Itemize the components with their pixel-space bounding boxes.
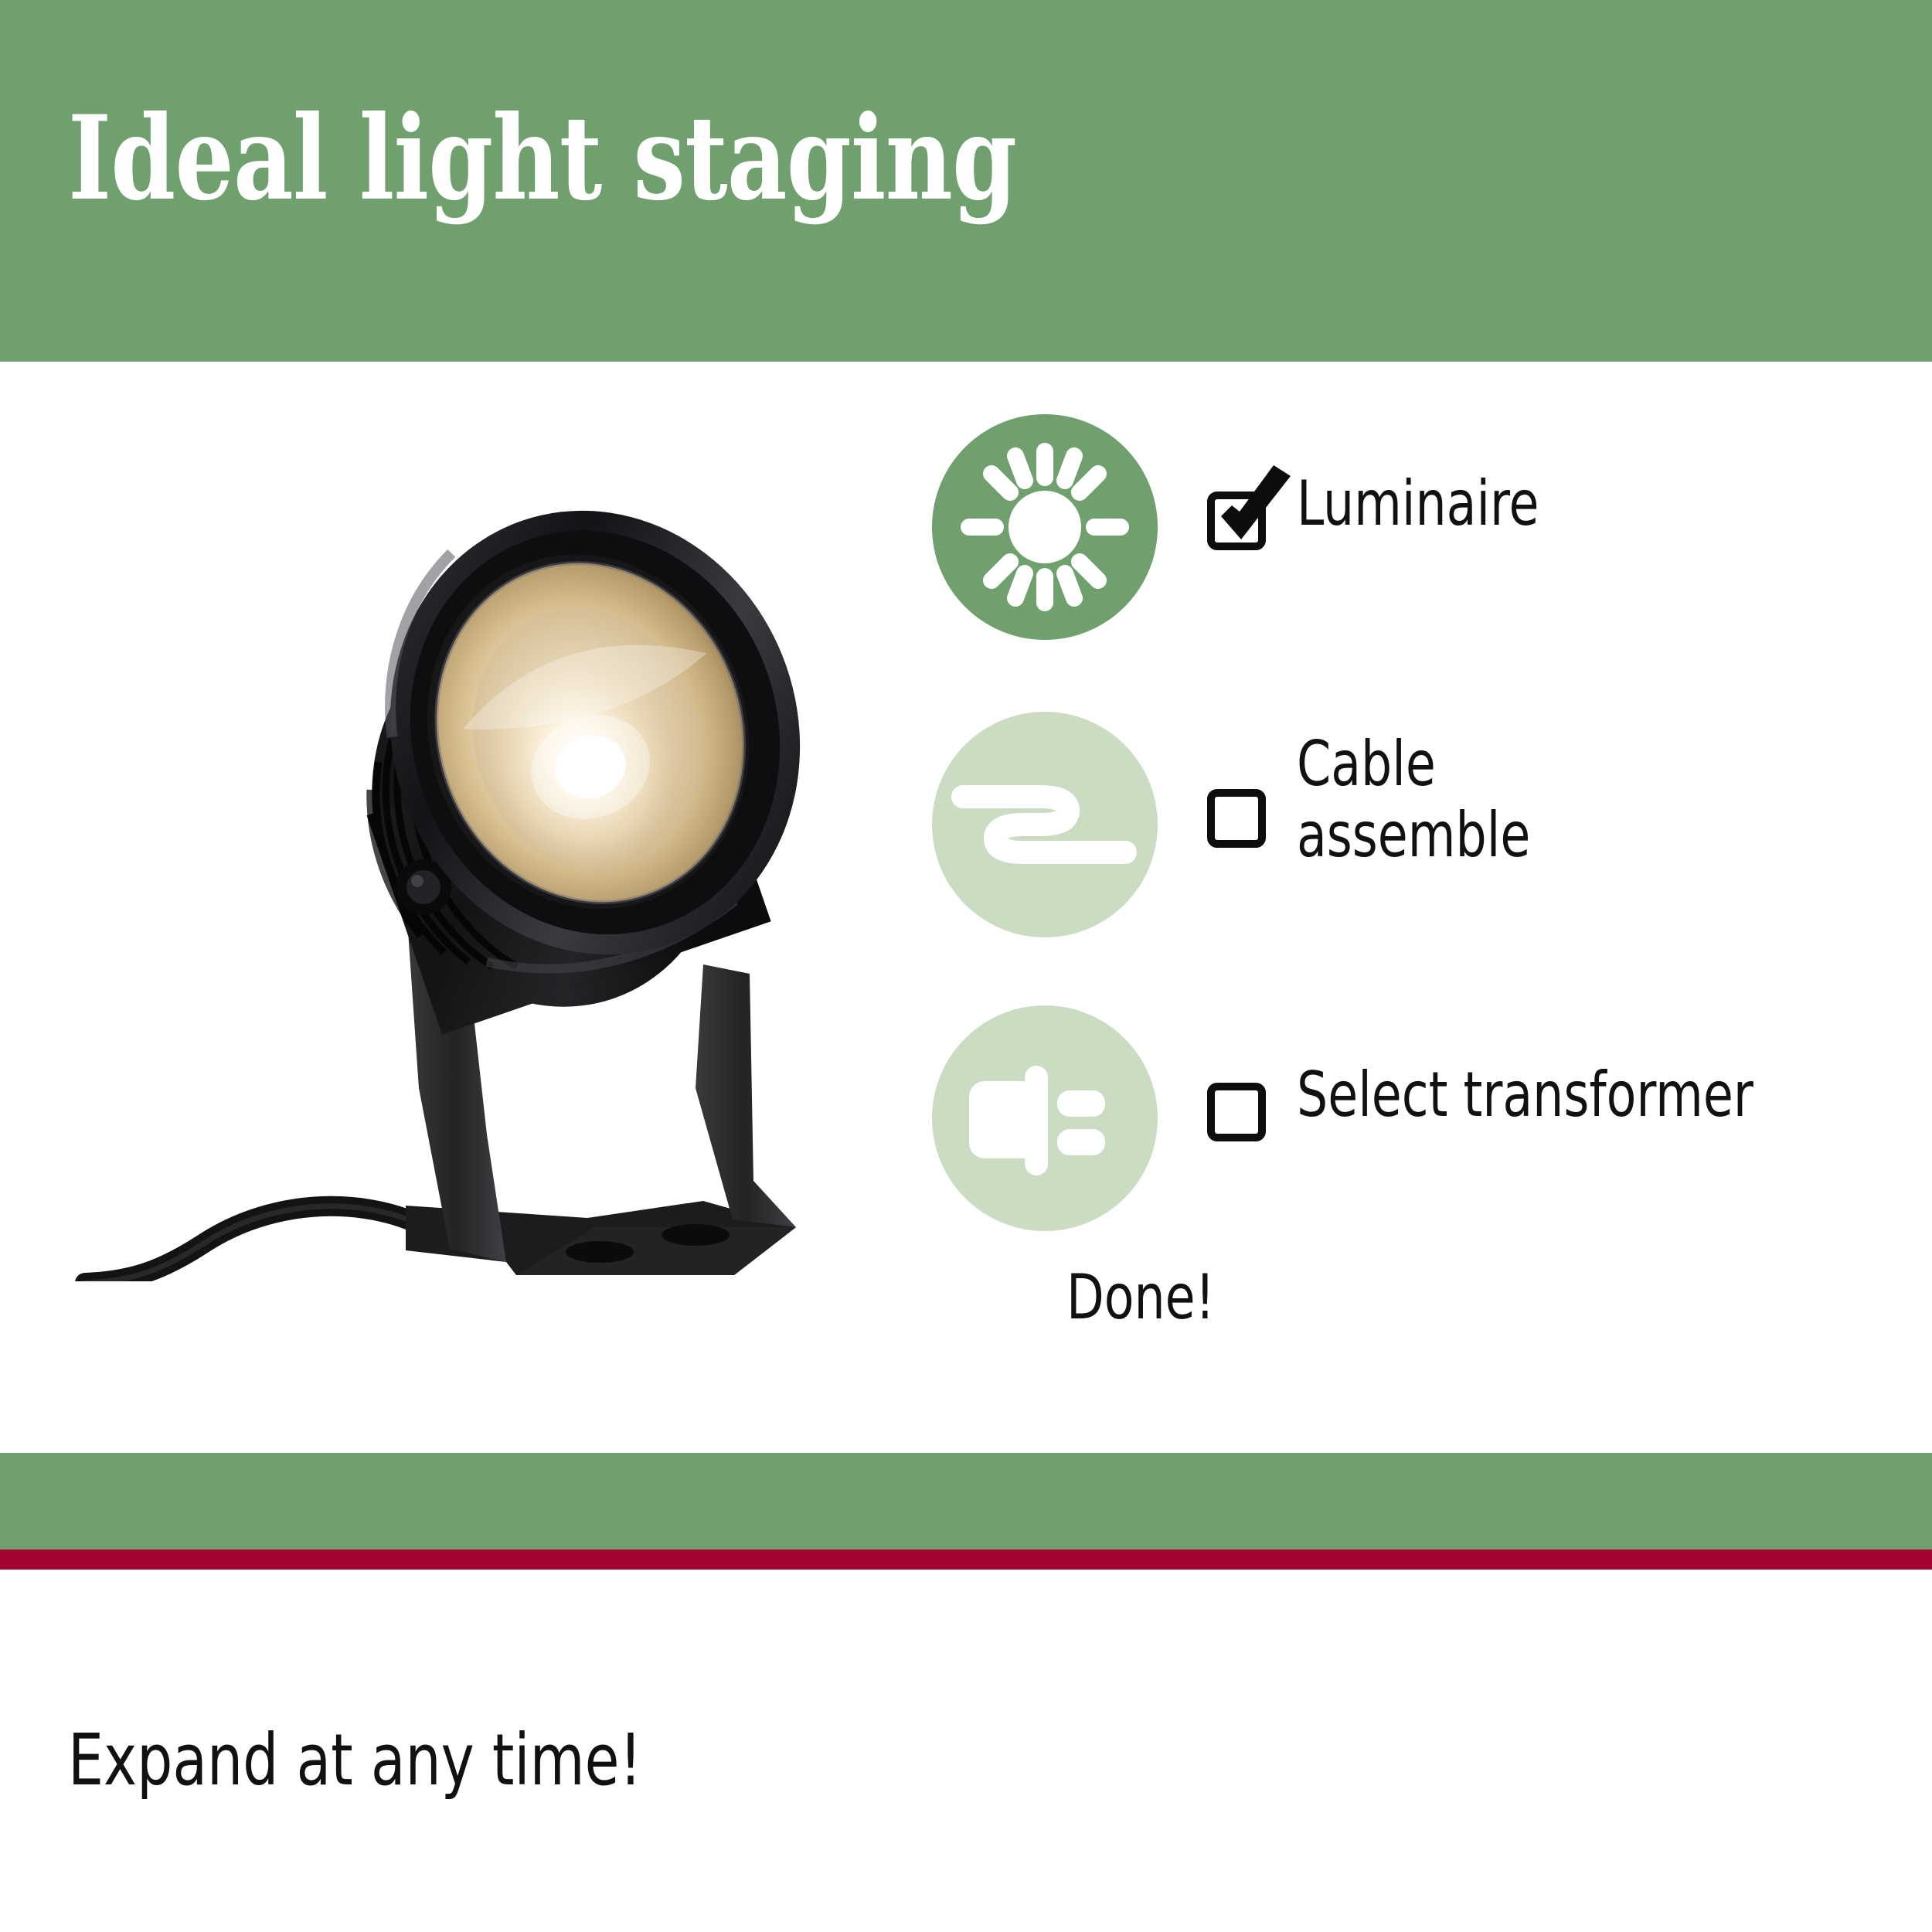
check-mark-icon: [1193, 448, 1309, 564]
checkbox-select-transformer[interactable]: [1207, 1083, 1266, 1141]
checklist-item-luminaire[interactable]: Luminaire: [927, 408, 1901, 640]
checklist-item-select-transformer[interactable]: Select transformer: [927, 999, 1901, 1231]
cable-icon: [932, 712, 1158, 937]
footer-caption: Expand at any time!: [68, 1722, 642, 1799]
checkbox-cable-assemble[interactable]: [1207, 789, 1266, 848]
footer-red-accent-bar: [0, 1549, 1932, 1570]
footer-green-band: [0, 1453, 1932, 1549]
checklist-label-select-transformer: Select transformer: [1297, 1060, 1753, 1131]
footer-area: Expand at any time!: [0, 1570, 1932, 1932]
checklist-label-cable-assemble: Cable assemble: [1297, 729, 1530, 871]
product-image-garden-spotlight: [54, 501, 920, 1281]
sun-icon: [932, 414, 1158, 640]
done-text: Done!: [1066, 1262, 1215, 1333]
checklist-item-cable-assemble[interactable]: Cable assemble: [927, 706, 1901, 937]
main-content: Luminaire Cable assemble: [0, 362, 1932, 1453]
plug-icon: [932, 1005, 1158, 1231]
checkbox-luminaire[interactable]: [1207, 492, 1266, 550]
header-band: Ideal light staging: [0, 0, 1932, 362]
checklist-label-luminaire: Luminaire: [1297, 468, 1539, 539]
page-title: Ideal light staging: [68, 100, 1016, 216]
